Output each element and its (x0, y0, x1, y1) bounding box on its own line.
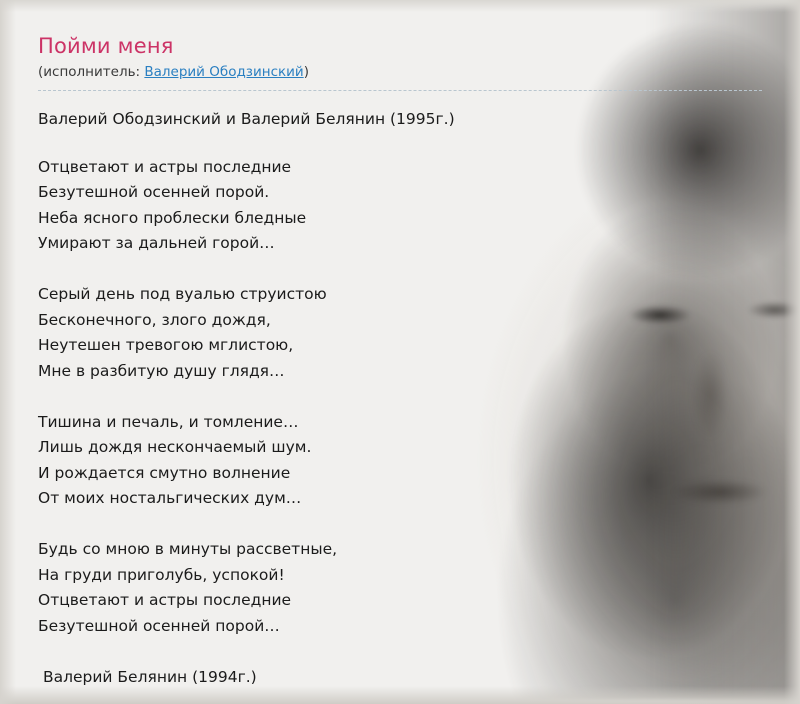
performer-line: (исполнитель: Валерий Ободзинский) (38, 64, 762, 91)
lyrics-page: Пойми меня (исполнитель: Валерий Ободзин… (0, 0, 800, 704)
performer-prefix-label: (исполнитель: (38, 64, 144, 80)
song-byline: Валерий Ободзинский и Валерий Белянин (1… (38, 107, 738, 133)
performer-link[interactable]: Валерий Ободзинский (144, 64, 303, 80)
page-title: Пойми меня (38, 34, 800, 58)
lyrics-content: Пойми меня (исполнитель: Валерий Ободзин… (0, 0, 800, 690)
performer-suffix-label: ) (304, 64, 309, 80)
song-lyrics-text: Отцветают и астры последние Безутешной о… (38, 155, 738, 691)
